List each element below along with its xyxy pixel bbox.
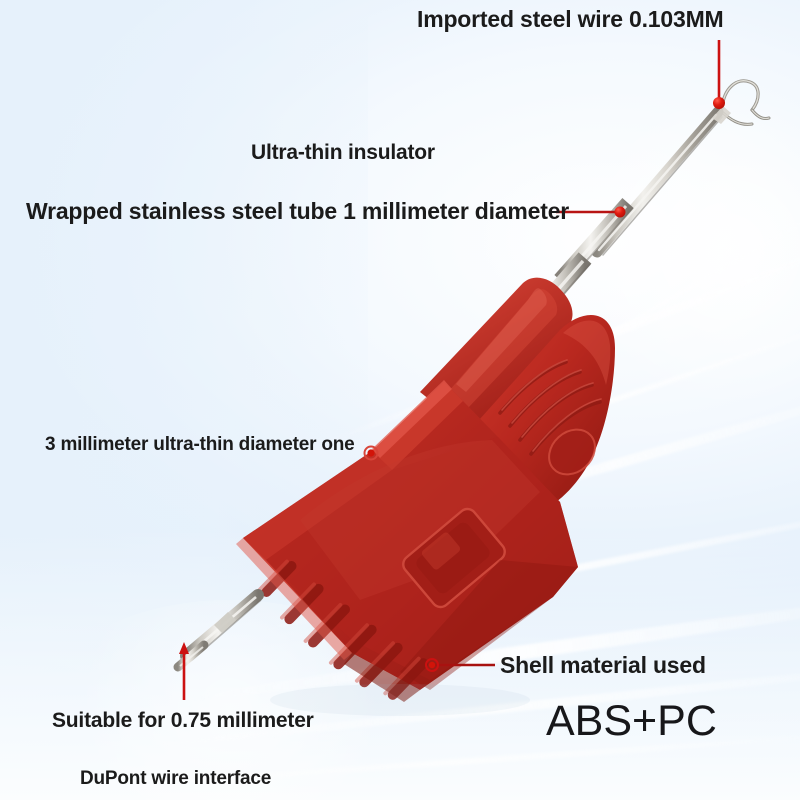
stainless-tube-upper <box>597 106 731 255</box>
label-shell-material-used: Shell material used <box>500 652 706 679</box>
label-wrapped-stainless-steel-tube: Wrapped stainless steel tube 1 millimete… <box>26 198 569 225</box>
product-illustration <box>0 0 800 800</box>
label-imported-steel-wire: Imported steel wire 0.103MM <box>417 6 723 33</box>
steel-wire-hook <box>720 81 769 125</box>
label-ultra-thin-insulator: Ultra-thin insulator <box>251 141 435 165</box>
dupont-pin <box>178 595 261 667</box>
label-dupont-wire-interface: DuPont wire interface <box>80 768 271 790</box>
label-suitable-for-075mm: Suitable for 0.75 millimeter <box>52 709 314 733</box>
label-material-abs-pc: ABS+PC <box>546 697 717 746</box>
product-infographic: Imported steel wire 0.103MM Ultra-thin i… <box>0 0 800 800</box>
label-ultra-thin-diameter: 3 millimeter ultra-thin diameter one <box>45 434 355 456</box>
